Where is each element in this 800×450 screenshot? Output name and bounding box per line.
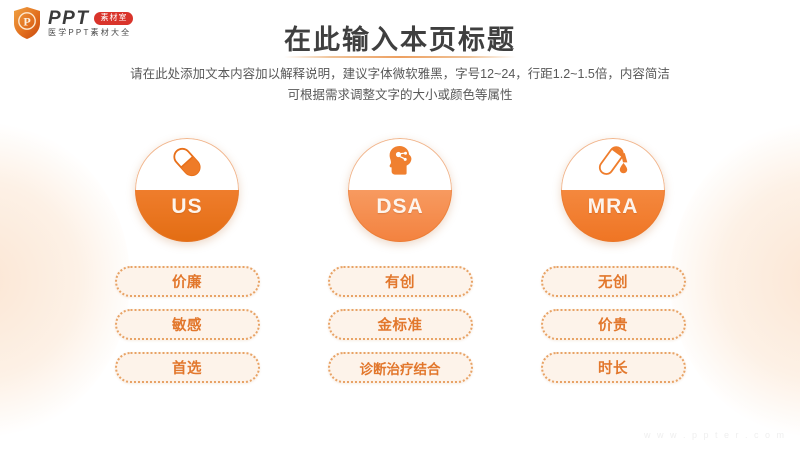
pill-label: 有创: [385, 271, 415, 292]
test-tube-drop-icon: [592, 141, 634, 188]
pill-item[interactable]: 敏感: [115, 309, 260, 340]
circle-us-icon-area: [135, 138, 239, 190]
pill-list-us: 价廉 敏感 首选: [115, 266, 260, 383]
circle-us-label-area: US: [135, 190, 239, 242]
site-watermark: w w w . p p t e r . c o m: [644, 430, 786, 440]
pill-label: 价贵: [598, 314, 628, 335]
pill-item[interactable]: 价廉: [115, 266, 260, 297]
circle-mra[interactable]: MRA: [561, 138, 665, 242]
circle-mra-icon-area: [561, 138, 665, 190]
circle-us[interactable]: US: [135, 138, 239, 242]
subtitle-line-1: 请在此处添加文本内容加以解释说明，建议字体微软雅黑，字号12~24，行距1.2~…: [0, 64, 800, 85]
pill-item[interactable]: 诊断治疗结合: [328, 352, 473, 383]
pill-list-mra: 无创 价贵 时长: [541, 266, 686, 383]
column-mra: MRA 无创 价贵 时长: [541, 138, 686, 383]
pill-label: 时长: [598, 357, 628, 378]
pill-label: 敏感: [172, 314, 202, 335]
capsule-pill-icon: [166, 141, 208, 188]
page-title: 在此输入本页标题: [0, 18, 800, 57]
head-brain-icon: [379, 141, 421, 188]
pill-item[interactable]: 首选: [115, 352, 260, 383]
pill-label: 首选: [172, 357, 202, 378]
pill-label: 诊断治疗结合: [360, 358, 441, 378]
circle-dsa-icon-area: [348, 138, 452, 190]
pill-item[interactable]: 无创: [541, 266, 686, 297]
pill-item[interactable]: 时长: [541, 352, 686, 383]
title-underline: [284, 56, 516, 58]
pill-item[interactable]: 金标准: [328, 309, 473, 340]
circle-dsa-label: DSA: [376, 195, 423, 219]
pill-label: 价廉: [172, 271, 202, 292]
column-us: US 价廉 敏感 首选: [115, 138, 260, 383]
content-columns: US 价廉 敏感 首选: [0, 138, 800, 383]
pill-list-dsa: 有创 金标准 诊断治疗结合: [328, 266, 473, 383]
pill-label: 无创: [598, 271, 628, 292]
circle-mra-label-area: MRA: [561, 190, 665, 242]
circle-dsa[interactable]: DSA: [348, 138, 452, 242]
circle-us-label: US: [171, 195, 202, 219]
pill-item[interactable]: 价贵: [541, 309, 686, 340]
pill-item[interactable]: 有创: [328, 266, 473, 297]
subtitle-line-2: 可根据需求调整文字的大小或颜色等属性: [0, 85, 800, 106]
column-dsa: DSA 有创 金标准 诊断治疗结合: [328, 138, 473, 383]
pill-label: 金标准: [378, 314, 423, 335]
circle-mra-label: MRA: [588, 195, 639, 219]
page-subtitle: 请在此处添加文本内容加以解释说明，建议字体微软雅黑，字号12~24，行距1.2~…: [0, 64, 800, 105]
circle-dsa-label-area: DSA: [348, 190, 452, 242]
